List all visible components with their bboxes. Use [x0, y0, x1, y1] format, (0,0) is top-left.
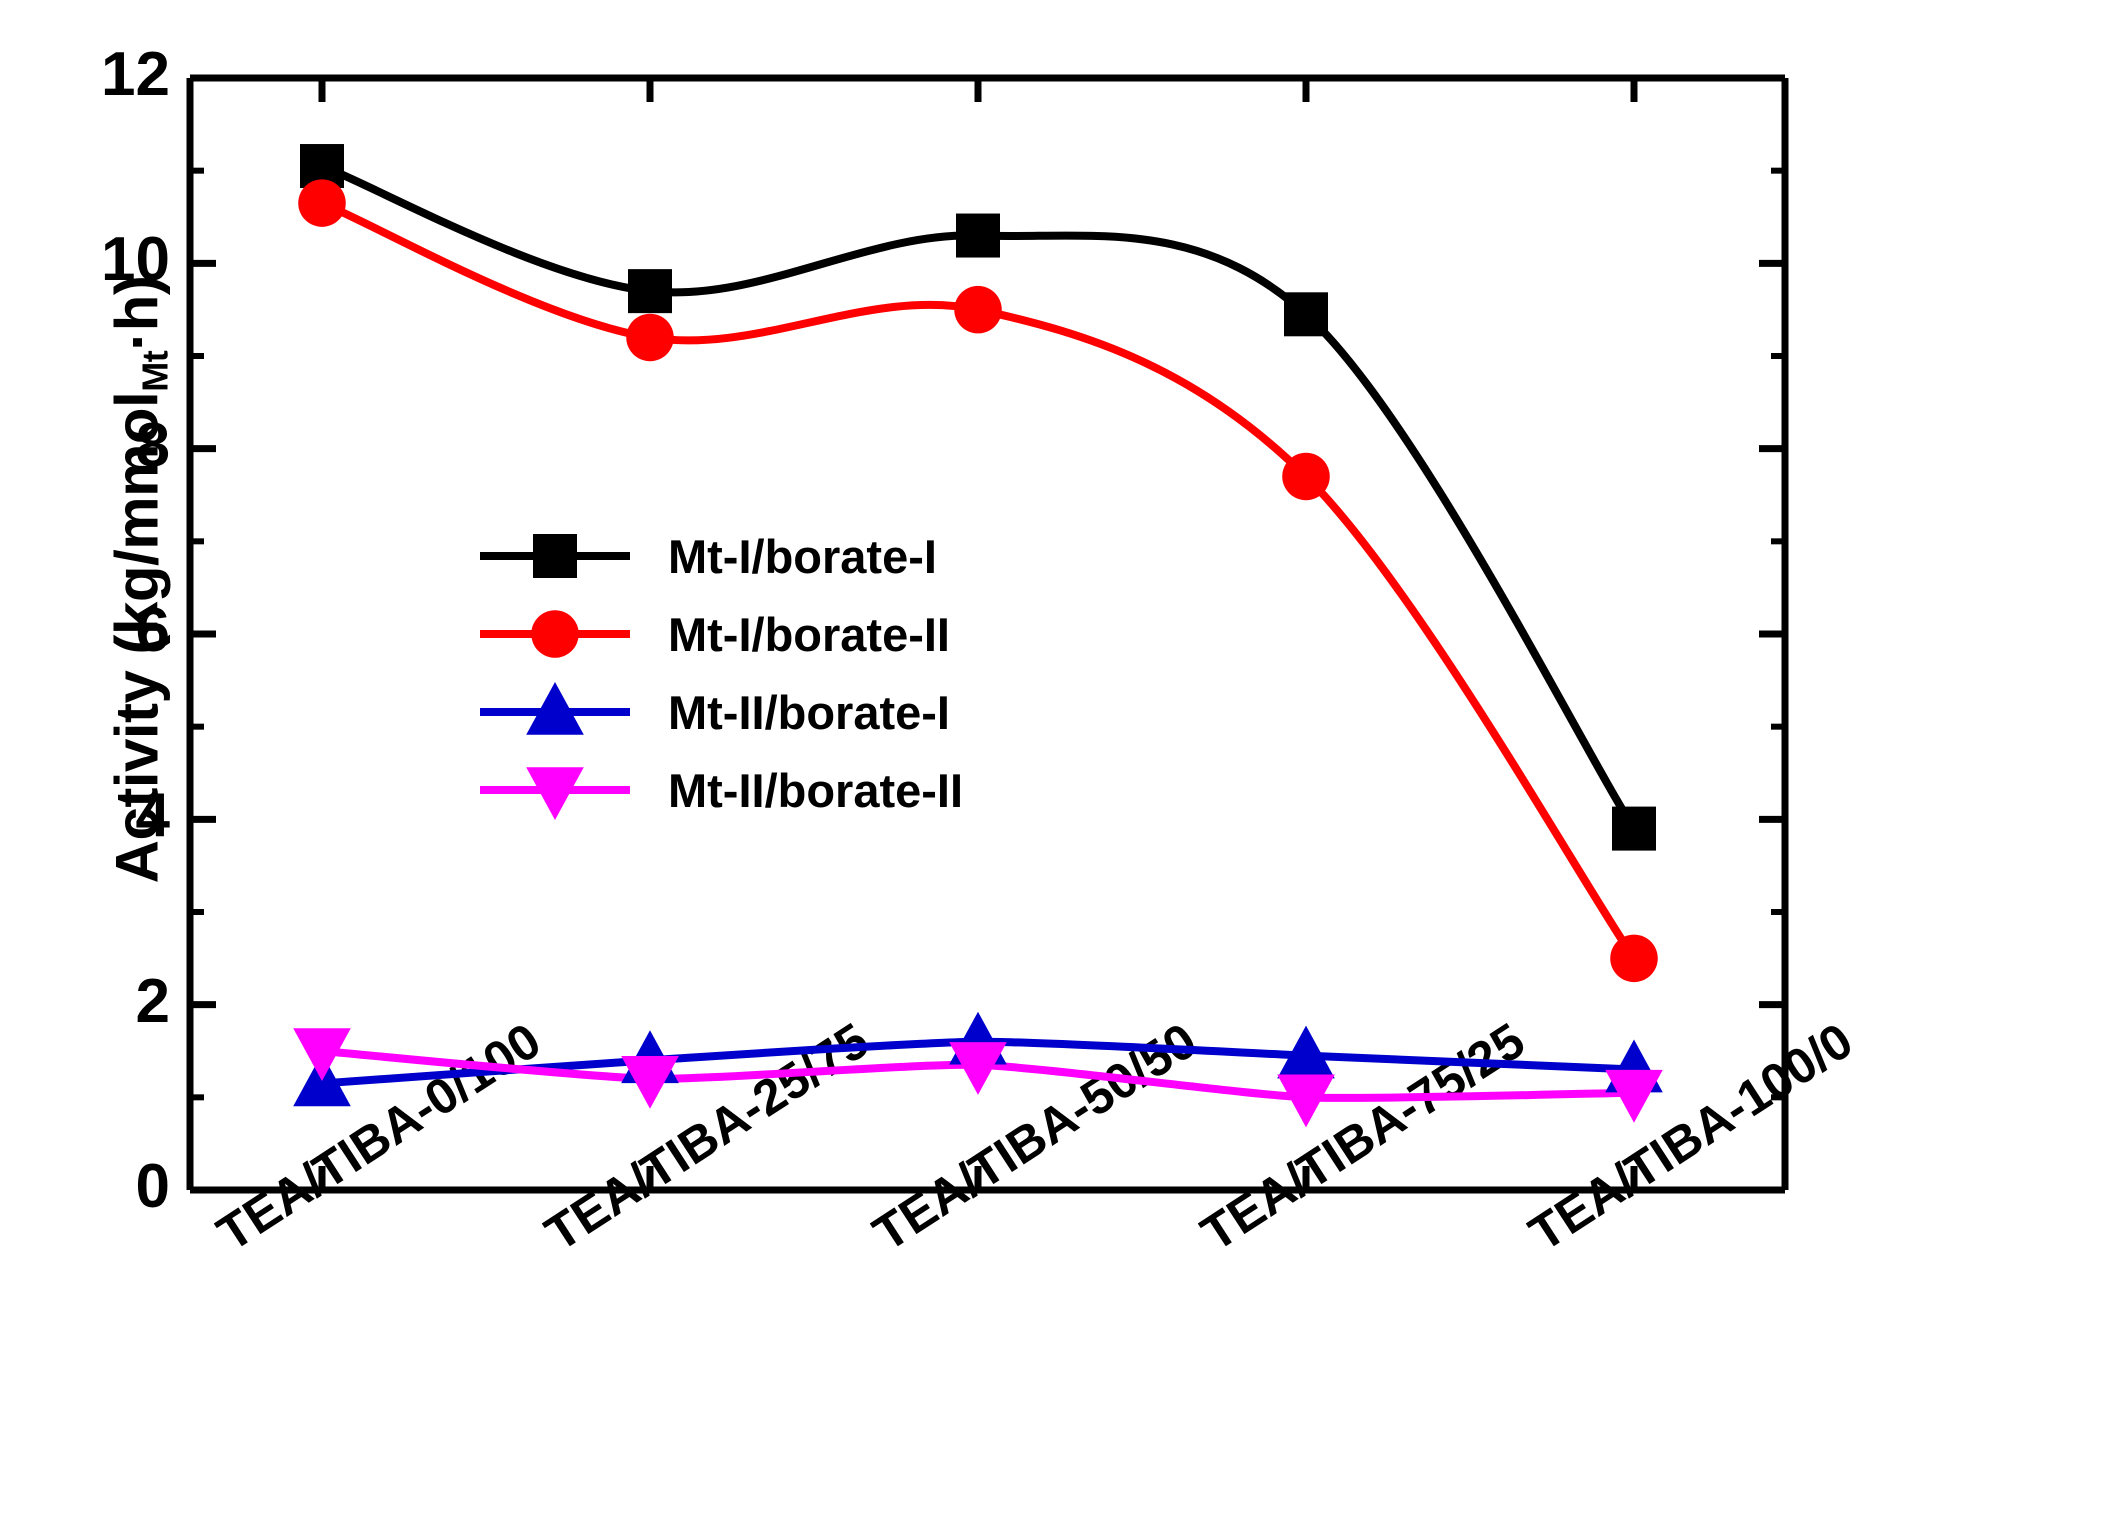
legend-entry-label: Mt-II/borate-I: [668, 685, 950, 740]
data-point-marker: [1612, 807, 1656, 851]
legend-marker: [531, 610, 579, 658]
data-point-marker: [298, 179, 346, 227]
legend-marker: [533, 534, 577, 578]
legend-entry-label: Mt-I/borate-I: [668, 529, 937, 584]
plot-area: [0, 0, 2104, 1532]
legend-entry-label: Mt-II/borate-II: [668, 763, 963, 818]
chart-figure: Activity (kg/mmolMt·h) 024681012 TEA/TIB…: [0, 0, 2104, 1532]
data-point-marker: [954, 286, 1002, 334]
data-point-marker: [626, 314, 674, 362]
data-point-marker: [956, 214, 1000, 258]
legend-entry-label: Mt-I/borate-II: [668, 607, 950, 662]
data-point-marker: [1282, 453, 1330, 501]
data-point-marker: [1610, 935, 1658, 983]
legend-symbols: [480, 534, 630, 820]
data-point-marker: [1284, 292, 1328, 336]
series-line: [322, 166, 1634, 829]
data-point-marker: [628, 269, 672, 313]
